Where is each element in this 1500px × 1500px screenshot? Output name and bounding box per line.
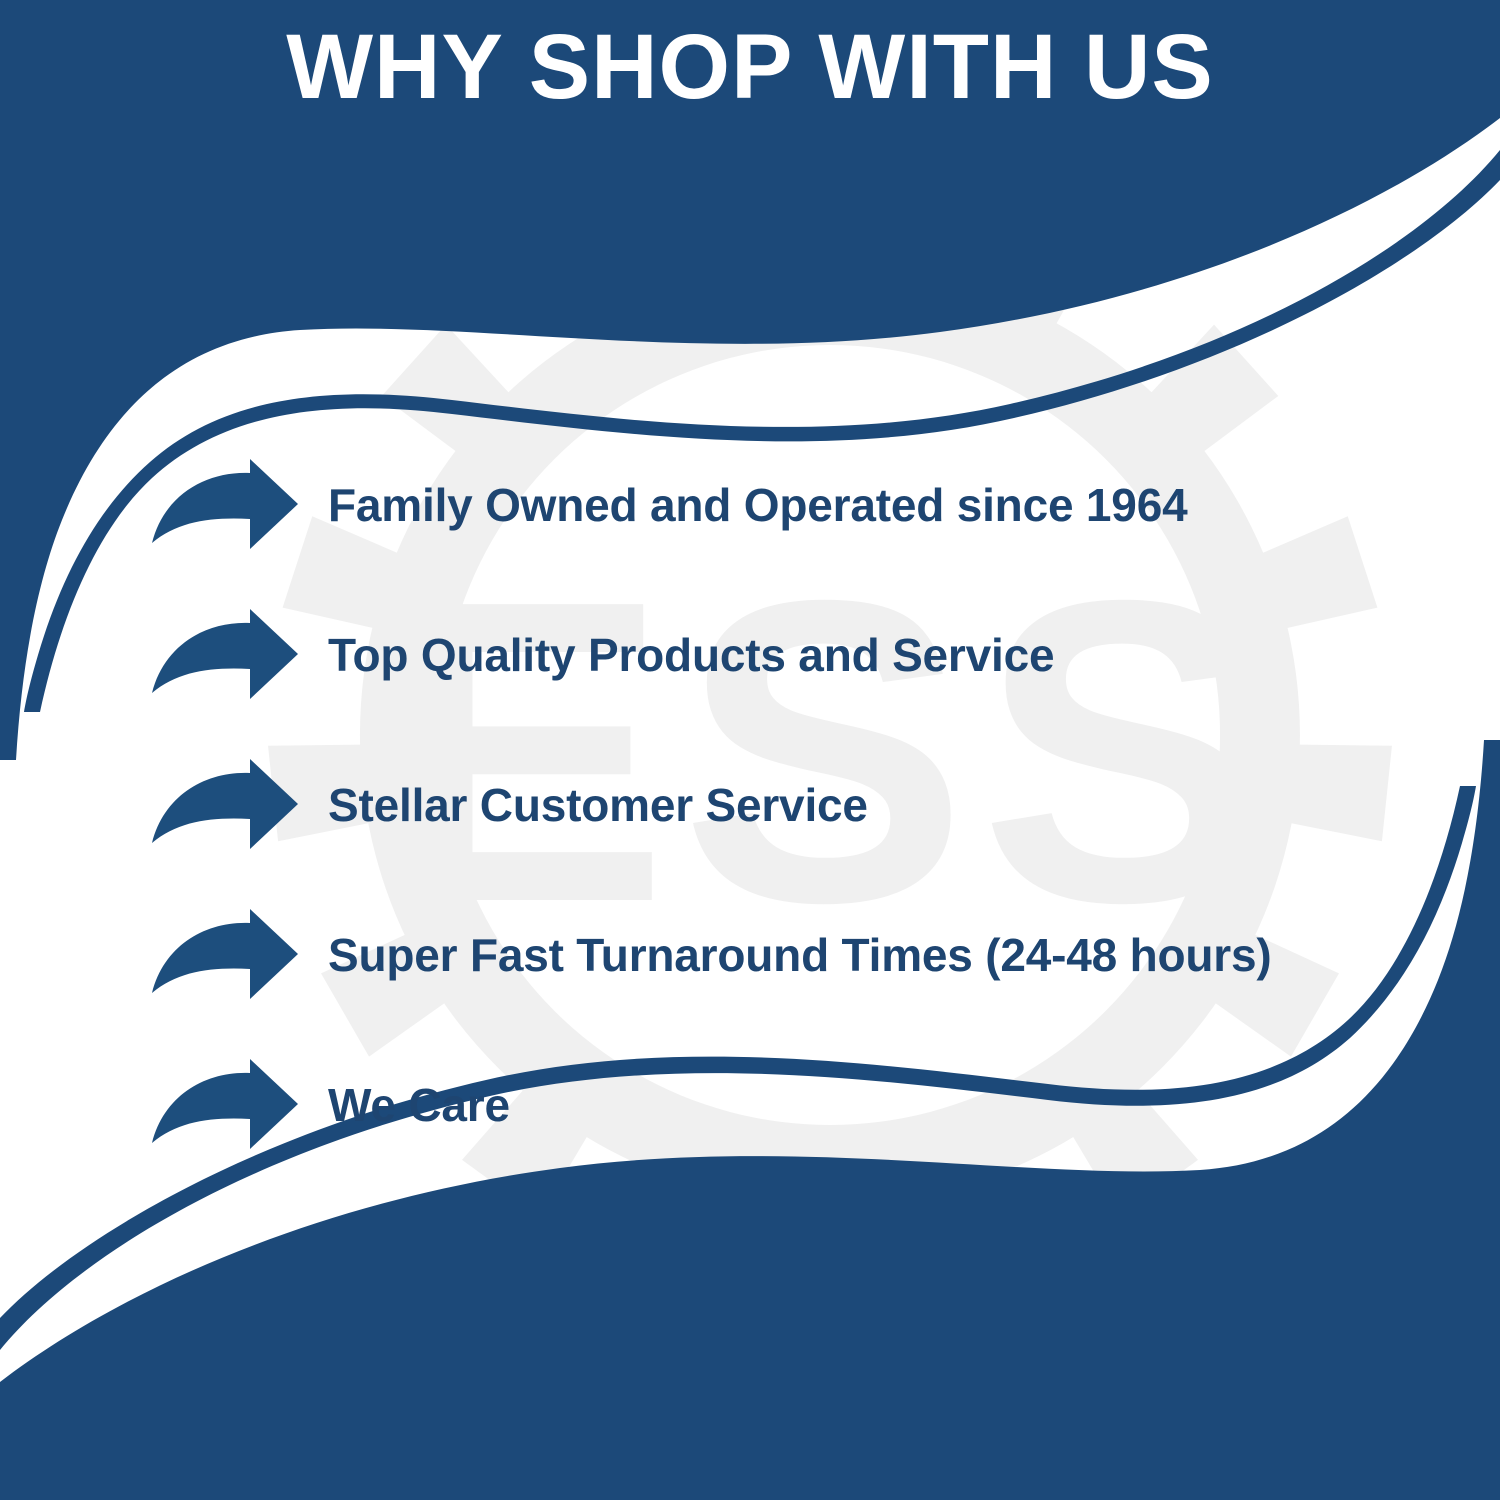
list-item: We Care — [150, 1030, 1450, 1180]
benefit-label: Stellar Customer Service — [328, 779, 1450, 832]
list-item: Stellar Customer Service — [150, 730, 1450, 880]
page-title: WHY SHOP WITH US — [0, 18, 1500, 117]
curved-right-arrow-icon — [150, 459, 300, 551]
curved-right-arrow-icon — [150, 1059, 300, 1151]
benefit-label: Family Owned and Operated since 1964 — [328, 479, 1450, 532]
curved-right-arrow-icon — [150, 609, 300, 701]
benefits-list: Family Owned and Operated since 1964 Top… — [150, 430, 1450, 1180]
curved-right-arrow-icon — [150, 909, 300, 1001]
why-shop-with-us-poster: ESS WHY SHOP WITH US Family Owned and Op… — [0, 0, 1500, 1500]
benefit-label: Super Fast Turnaround Times (24-48 hours… — [328, 929, 1450, 982]
benefit-label: Top Quality Products and Service — [328, 629, 1450, 682]
list-item: Family Owned and Operated since 1964 — [150, 430, 1450, 580]
list-item: Top Quality Products and Service — [150, 580, 1450, 730]
list-item: Super Fast Turnaround Times (24-48 hours… — [150, 880, 1450, 1030]
benefit-label: We Care — [328, 1079, 1450, 1132]
curved-right-arrow-icon — [150, 759, 300, 851]
